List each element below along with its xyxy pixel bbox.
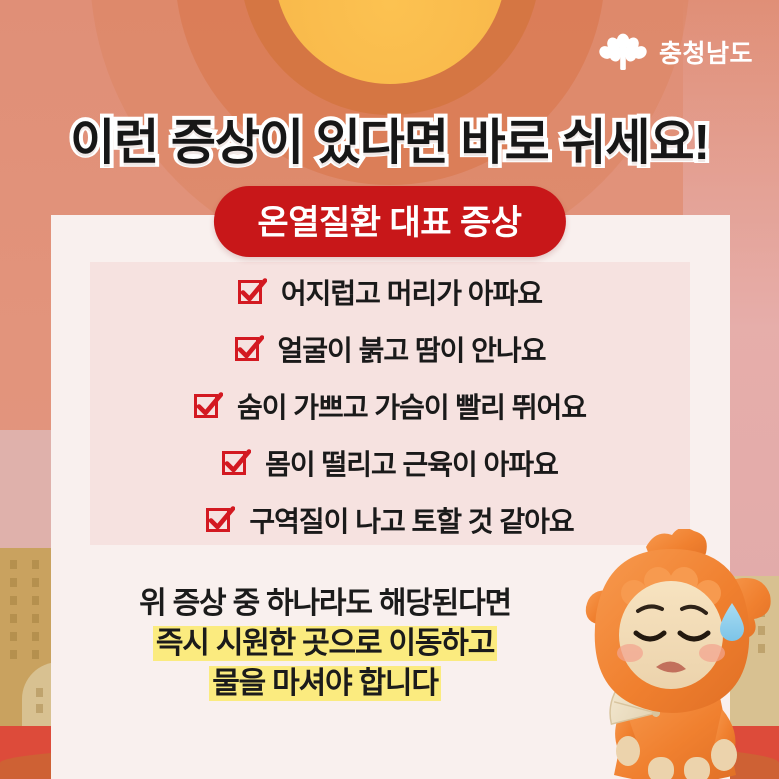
list-item: 구역질이 나고 토할 것 같아요: [205, 500, 573, 540]
list-item-label: 어지럽고 머리가 아파요: [281, 272, 542, 312]
list-item-label: 몸이 떨리고 근육이 아파요: [265, 443, 558, 483]
checkbox-checked-icon: [237, 277, 267, 307]
orange-hooded-character: [572, 529, 777, 779]
message-line-3: 물을 마셔야 합니다: [60, 664, 590, 704]
list-item: 숨이 가쁘고 가슴이 빨리 뛰어요: [193, 386, 586, 426]
message-line-2-highlight: 즉시 시원한 곳으로 이동하고: [153, 626, 497, 661]
message-line-1: 위 증상 중 하나라도 해당된다면: [60, 584, 590, 624]
list-item-label: 숨이 가쁘고 가슴이 빨리 뛰어요: [237, 386, 586, 426]
list-item: 몸이 떨리고 근육이 아파요: [221, 443, 558, 483]
message-line-2: 즉시 시원한 곳으로 이동하고: [60, 624, 590, 664]
poster-canvas: 충청남도 이런 증상이 있다면 바로 쉬세요! 온열질환 대표 증상 어지럽고 …: [0, 0, 779, 779]
checkbox-checked-icon: [205, 505, 235, 535]
logo-label: 충청남도: [659, 42, 753, 67]
list-item-label: 얼굴이 붉고 땀이 안나요: [278, 329, 546, 369]
list-item-label: 구역질이 나고 토할 것 같아요: [249, 500, 573, 540]
symptom-list: 어지럽고 머리가 아파요 얼굴이 붉고 땀이 안나요 숨이 가쁘고 가슴이 빨리…: [0, 272, 779, 540]
checkbox-checked-icon: [234, 334, 264, 364]
chungnam-flower-emblem-icon: [597, 30, 649, 78]
message-line-3-highlight: 물을 마셔야 합니다: [209, 666, 440, 701]
checkbox-checked-icon: [193, 391, 223, 421]
call-to-action-message: 위 증상 중 하나라도 해당된다면 즉시 시원한 곳으로 이동하고 물을 마셔야…: [60, 584, 590, 704]
list-item: 얼굴이 붉고 땀이 안나요: [234, 329, 546, 369]
chungnam-logo[interactable]: 충청남도: [597, 30, 753, 78]
page-title: 이런 증상이 있다면 바로 쉬세요!: [0, 103, 779, 174]
section-badge: 온열질환 대표 증상: [213, 186, 565, 257]
checkbox-checked-icon: [221, 448, 251, 478]
list-item: 어지럽고 머리가 아파요: [237, 272, 542, 312]
